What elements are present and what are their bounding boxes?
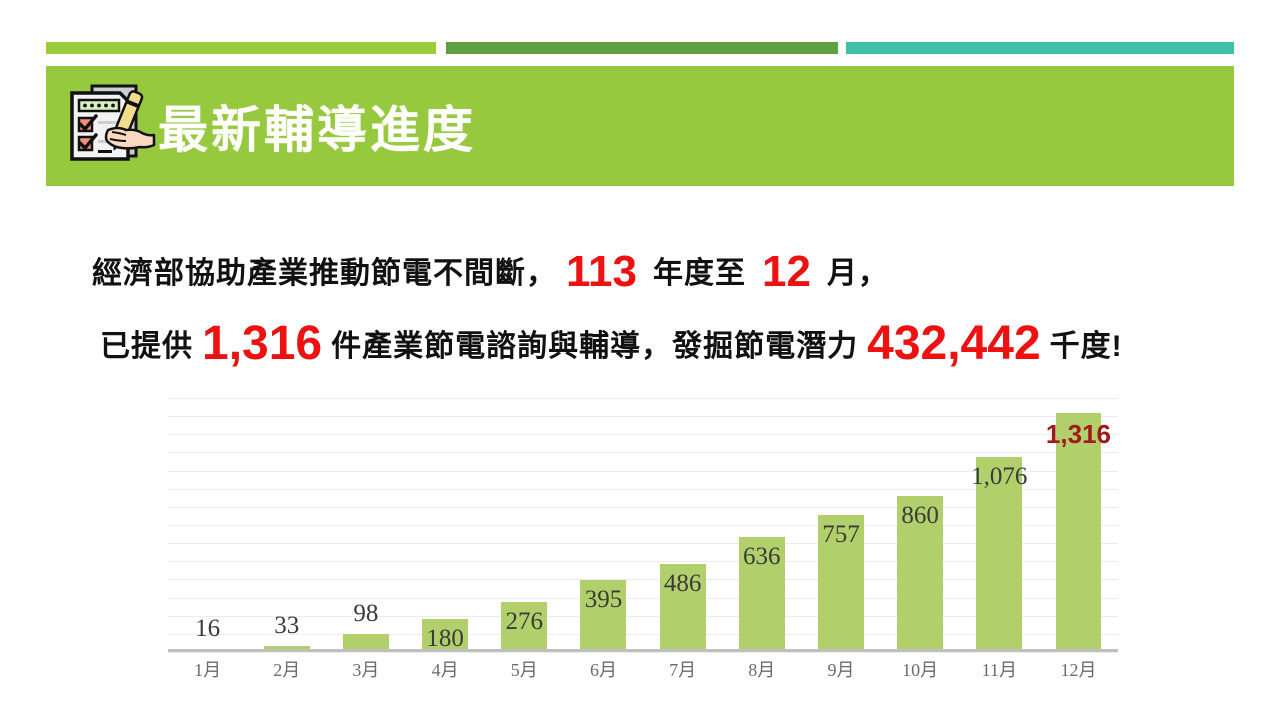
chart-bar: 486 — [660, 564, 706, 652]
chart-bar: 860 — [897, 496, 943, 652]
chart-x-tick-label: 12月 — [1039, 656, 1118, 690]
chart-bar: 395 — [580, 580, 626, 652]
chart-bar-column: 1,316 — [1039, 398, 1118, 652]
chart-bar-column: 395 — [564, 398, 643, 652]
headline-line-1: 經濟部協助產業推動節電不間斷，113年度至12月， — [92, 238, 1242, 310]
chart-bar-column: 276 — [485, 398, 564, 652]
chart-axis-line — [168, 649, 1118, 652]
chart-bar-value-label: 757 — [822, 521, 860, 549]
chart-bars: 1633981802763954866367578601,0761,316 — [168, 398, 1118, 652]
headline-year-value: 113 — [566, 247, 637, 296]
chart-bar-column: 33 — [247, 398, 326, 652]
headline-l1-text-1: 經濟部協助產業推動節電不間斷， — [92, 257, 557, 290]
chart-bar-value-label: 276 — [506, 608, 544, 636]
chart-bar: 1,316 — [1056, 413, 1102, 652]
chart-bar-value-label: 395 — [585, 586, 623, 614]
chart-x-axis: 1月2月3月4月5月6月7月8月9月10月11月12月 — [168, 656, 1118, 690]
accent-bar-dark-green — [446, 42, 838, 54]
chart-bar: 276 — [501, 602, 547, 652]
chart-bar-column: 1,076 — [960, 398, 1039, 652]
headline-savings-value: 432,442 — [867, 317, 1041, 370]
chart-x-tick-label: 10月 — [881, 656, 960, 690]
chart-x-tick-label: 11月 — [960, 656, 1039, 690]
headline-cases-value: 1,316 — [202, 317, 322, 370]
chart-bar-value-label: 860 — [901, 502, 939, 530]
chart-x-tick-label: 7月 — [643, 656, 722, 690]
chart-x-tick-label: 9月 — [801, 656, 880, 690]
chart-x-tick-label: 1月 — [168, 656, 247, 690]
chart-x-tick-label: 5月 — [485, 656, 564, 690]
chart-bar: 636 — [739, 537, 785, 652]
headline-l2-text-1: 已提供 — [100, 330, 193, 363]
headline-l1-text-3: 月， — [827, 257, 889, 290]
chart-bar-value-label: 33 — [274, 612, 299, 640]
chart-x-tick-label: 8月 — [722, 656, 801, 690]
chart-bar-value-label: 98 — [353, 600, 378, 628]
headline-block: 經濟部協助產業推動節電不間斷，113年度至12月， 已提供1,316件產業節電諮… — [92, 238, 1242, 383]
chart-bar-column: 757 — [801, 398, 880, 652]
chart-bar-column: 98 — [326, 398, 405, 652]
chart-x-tick-label: 3月 — [326, 656, 405, 690]
headline-line-2: 已提供1,316件產業節電諮詢與輔導，發掘節電潛力432,442千度! — [100, 310, 1242, 383]
chart-plot-area: 1633981802763954866367578601,0761,316 — [168, 398, 1118, 652]
chart-bar-column: 486 — [643, 398, 722, 652]
chart-bar-column: 16 — [168, 398, 247, 652]
chart-bar: 180 — [422, 619, 468, 652]
chart-bar-value-label: 16 — [195, 615, 220, 643]
headline-l1-text-2: 年度至 — [653, 257, 746, 290]
headline-l2-text-3: 千度! — [1050, 330, 1123, 363]
chart-bar-value-label: 636 — [743, 543, 781, 571]
accent-bar-light-green — [46, 42, 436, 54]
page-title: 最新輔導進度 — [158, 90, 476, 162]
chart-bar-value-label: 1,076 — [971, 463, 1027, 491]
chart-x-tick-label: 6月 — [564, 656, 643, 690]
chart-bar: 757 — [818, 515, 864, 652]
chart-bar-column: 180 — [406, 398, 485, 652]
chart-x-tick-label: 4月 — [406, 656, 485, 690]
clipboard-checklist-pencil-icon — [62, 80, 158, 174]
headline-month-value: 12 — [762, 247, 811, 296]
accent-bar-row — [0, 42, 1280, 54]
chart-x-tick-label: 2月 — [247, 656, 326, 690]
chart-bar-column: 636 — [722, 398, 801, 652]
header-band: 最新輔導進度 — [46, 66, 1234, 186]
chart-bar: 1,076 — [976, 457, 1022, 652]
headline-l2-text-2: 件產業節電諮詢與輔導，發掘節電潛力 — [331, 330, 858, 363]
chart-bar-value-label: 486 — [664, 570, 702, 598]
chart-bar-column: 860 — [881, 398, 960, 652]
bar-chart: 1633981802763954866367578601,0761,316 1月… — [168, 398, 1118, 690]
accent-bar-teal — [846, 42, 1234, 54]
chart-gridline — [168, 652, 1118, 653]
chart-bar-value-label: 1,316 — [1046, 419, 1111, 450]
